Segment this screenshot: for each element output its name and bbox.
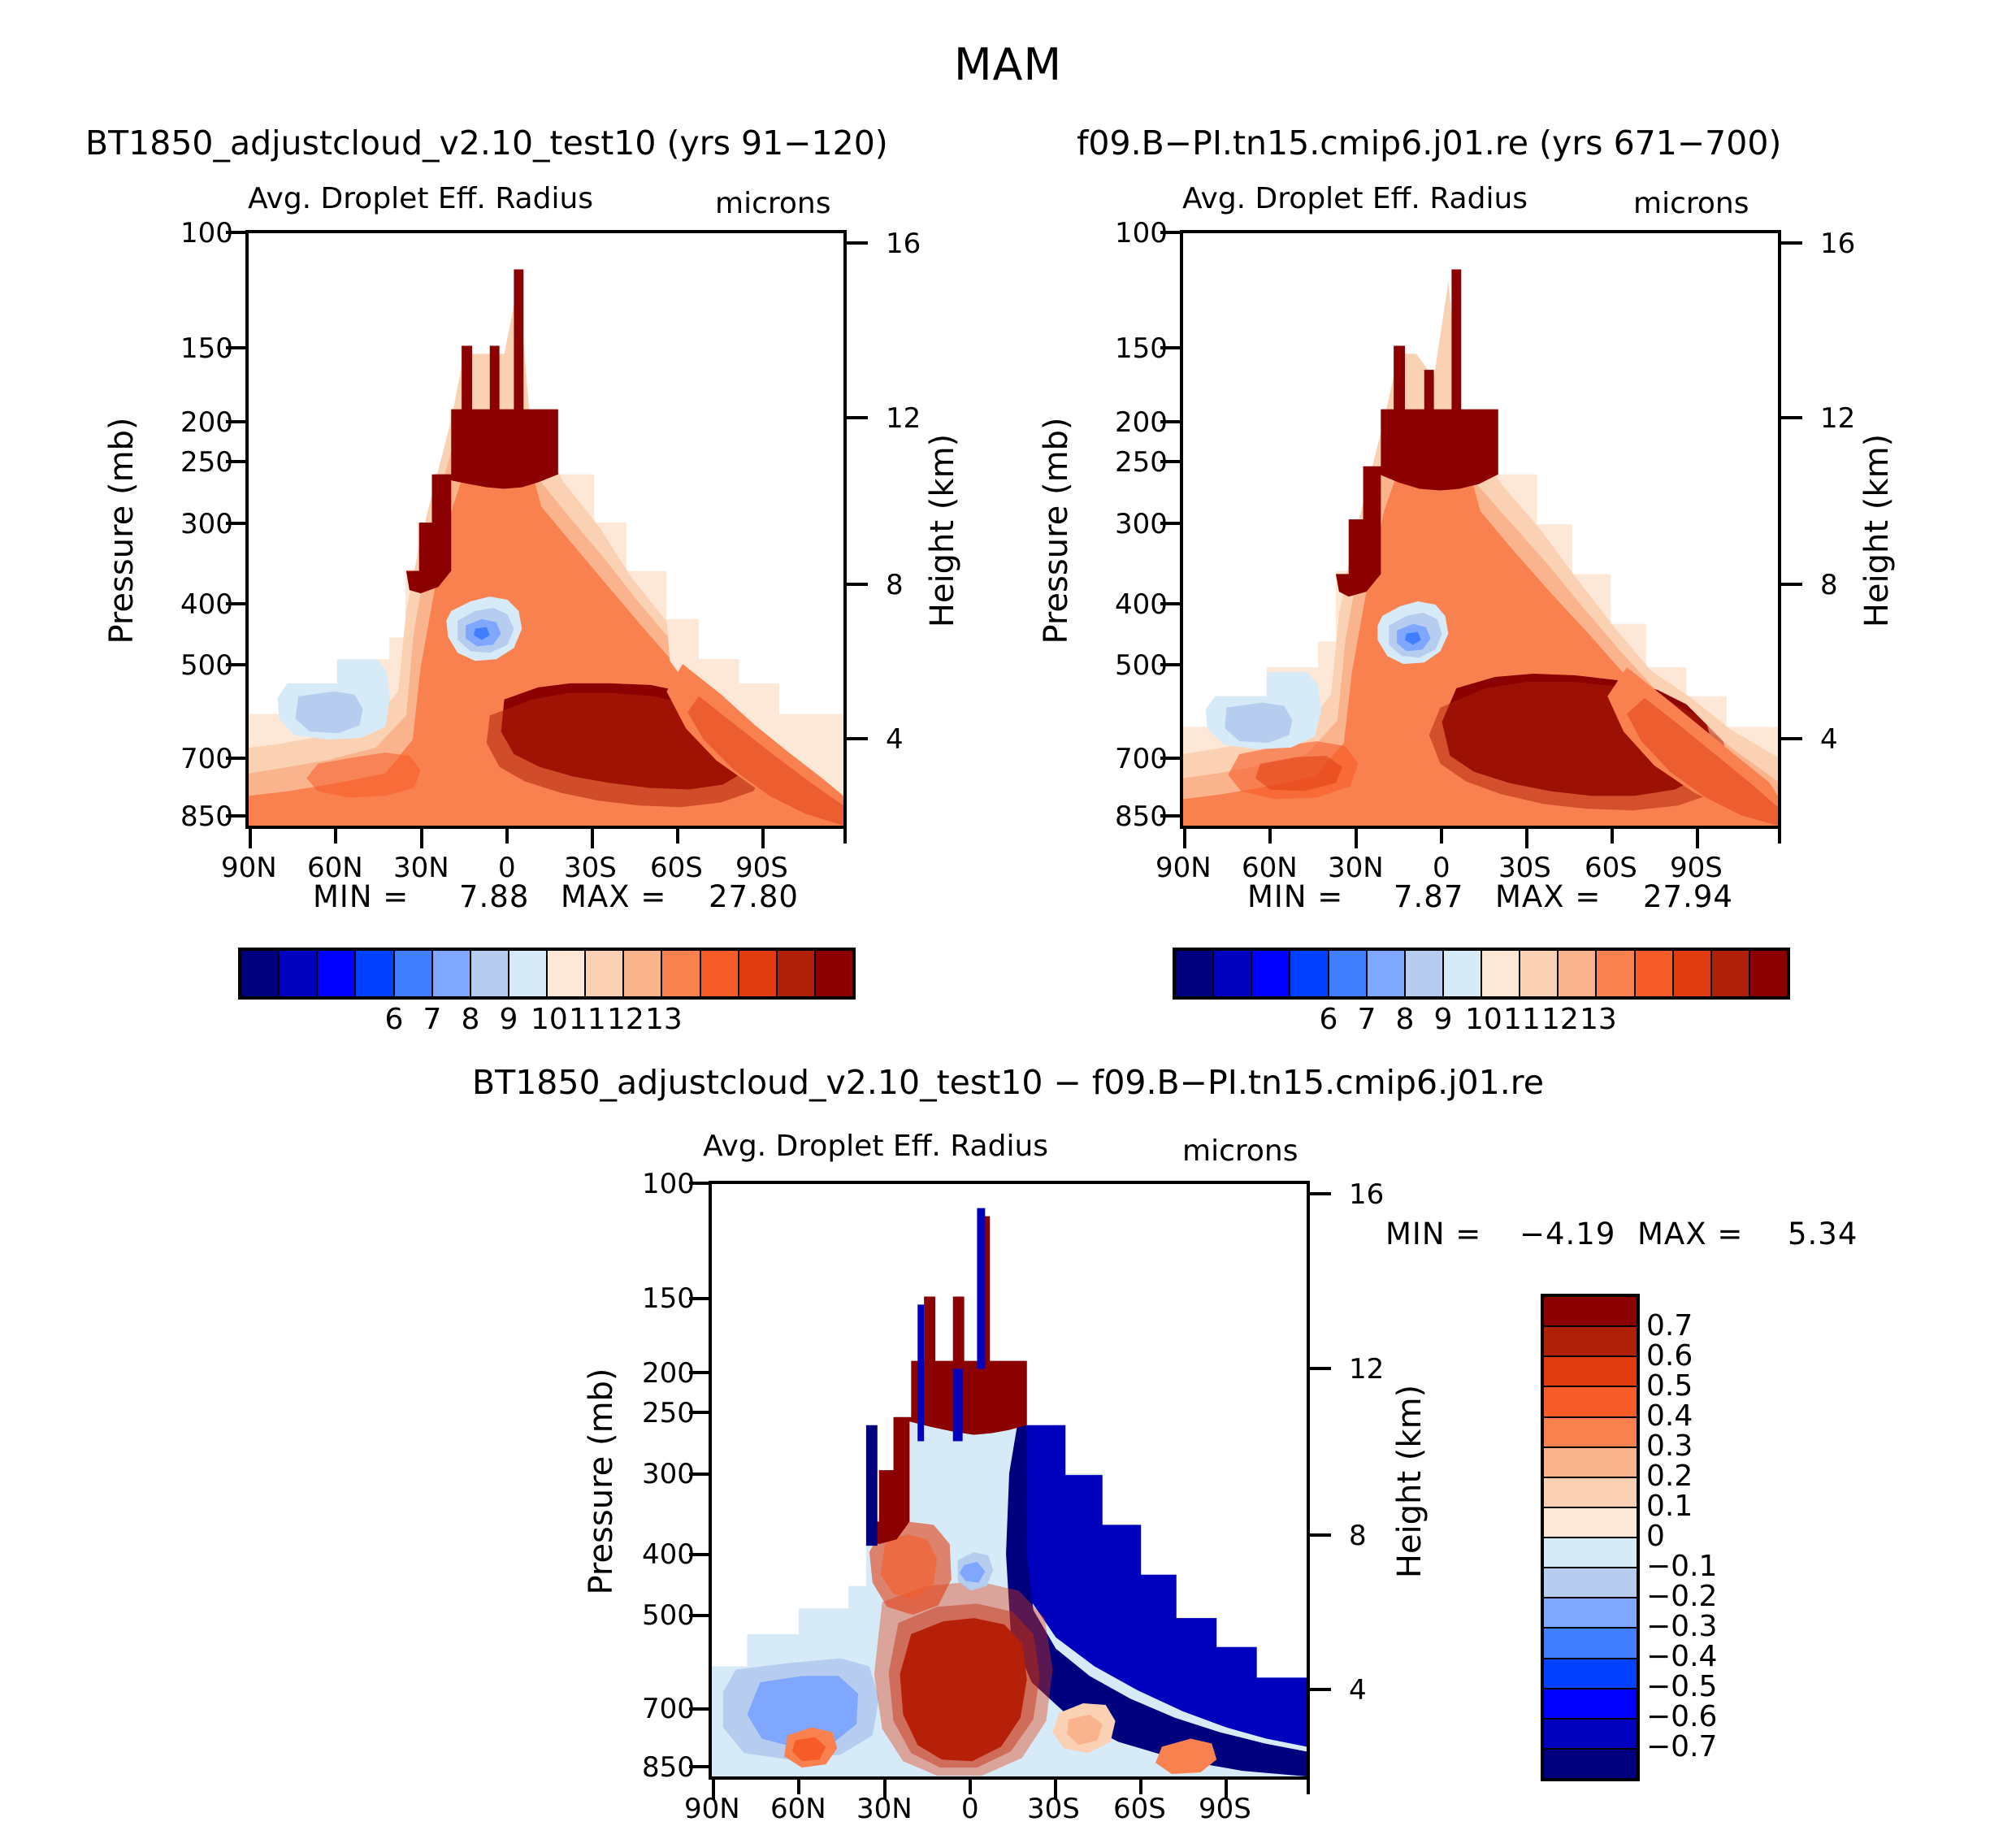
colorbar-swatch (395, 951, 433, 996)
colorbar-tick-label: 9 (492, 1003, 525, 1036)
tick-pressure-500-d: 500 (642, 1599, 695, 1632)
lat-label-30N-diff: 30N (856, 1793, 913, 1825)
colorbar-swatch (1544, 1387, 1637, 1417)
colorbar-swatch (1252, 951, 1290, 996)
right-panel-title: f09.B−PI.tn15.cmip6.j01.re (yrs 671−700) (1077, 124, 1781, 163)
left-units-label: microns (715, 187, 830, 220)
colorbar-swatch (1544, 1720, 1637, 1750)
colorbar-tick-label: −0.4 (1646, 1640, 1768, 1673)
colorbar-swatch (1520, 951, 1559, 996)
colorbar-swatch (548, 951, 586, 996)
tick-height-16: 16 (886, 228, 921, 260)
tick-height-8-r: 8 (1820, 569, 1838, 601)
right-contour-plot[interactable] (1180, 230, 1781, 829)
left-height-axis-title: Height (km) (924, 397, 961, 665)
colorbar-swatch (1406, 951, 1444, 996)
colorbar-tick-label: 13 (1580, 1003, 1612, 1036)
right-variable-label: Avg. Droplet Eff. Radius (1182, 182, 1528, 215)
tick-height-12-r: 12 (1820, 402, 1855, 435)
tick-height-12-d: 12 (1349, 1353, 1384, 1386)
colorbar-swatch (1750, 951, 1787, 996)
tick-pressure-700-d: 700 (642, 1693, 695, 1725)
lat-label-90N-diff: 90N (684, 1793, 740, 1825)
colorbar-swatch (1544, 1297, 1637, 1327)
colorbar-swatch (1176, 951, 1214, 996)
right-max-value: 27.94 (1643, 879, 1733, 914)
tick-height-4-r: 4 (1820, 723, 1838, 756)
lat-label-60N-diff: 60N (770, 1793, 826, 1825)
colorbar-swatch (433, 951, 471, 996)
tick-pressure-250-d: 250 (642, 1397, 695, 1429)
tick-height-16-d: 16 (1349, 1178, 1384, 1211)
colorbar-swatch (471, 951, 509, 996)
colorbar-swatch (280, 951, 318, 996)
tick-pressure-850-d: 850 (642, 1751, 695, 1784)
right-colorbar[interactable] (1173, 948, 1790, 1000)
diff-height-axis-title: Height (km) (1391, 1347, 1429, 1616)
tick-pressure-200-d: 200 (642, 1357, 695, 1390)
tick-pressure-300-d: 300 (642, 1458, 695, 1490)
diff-colorbar-labels: 0.70.60.50.40.30.20.10−0.1−0.2−0.3−0.4−0… (1646, 1294, 1776, 1781)
left-contour-plot[interactable] (245, 230, 847, 829)
colorbar-swatch (1544, 1357, 1637, 1387)
diff-min-label: MIN = (1385, 1217, 1481, 1251)
lat-label-90N-left: 90N (221, 852, 277, 884)
colorbar-tick-label: 0.6 (1646, 1339, 1768, 1373)
diff-max-label: MAX = (1637, 1217, 1743, 1251)
lat-label-90N-right: 90N (1155, 852, 1212, 884)
colorbar-swatch (356, 951, 394, 996)
left-pressure-axis-title: Pressure (mb) (103, 397, 141, 665)
colorbar-swatch (1544, 1478, 1637, 1508)
colorbar-tick-label: 12 (607, 1003, 639, 1036)
colorbar-swatch (1544, 1659, 1637, 1689)
right-max-label: MAX = (1495, 879, 1601, 914)
colorbar-swatch (1544, 1538, 1637, 1568)
tick-height-4: 4 (886, 723, 904, 756)
colorbar-tick-label: 6 (1312, 1003, 1345, 1036)
left-colorbar-labels: 678910111213 (238, 1003, 856, 1043)
colorbar-tick-label: 0.7 (1646, 1309, 1768, 1342)
colorbar-swatch (241, 951, 280, 996)
left-contour-field (249, 233, 843, 826)
left-panel-title: BT1850_adjustcloud_v2.10_test10 (yrs 91−… (85, 124, 888, 163)
colorbar-tick-label: −0.6 (1646, 1700, 1768, 1733)
colorbar-swatch (1559, 951, 1597, 996)
colorbar-tick-label: −0.3 (1646, 1610, 1768, 1643)
colorbar-swatch (662, 951, 700, 996)
diff-pressure-axis-title: Pressure (mb) (583, 1347, 620, 1616)
colorbar-tick-label: 8 (1389, 1003, 1421, 1036)
colorbar-swatch (1329, 951, 1368, 996)
colorbar-swatch (701, 951, 739, 996)
colorbar-swatch (318, 951, 356, 996)
left-min-label: MIN = (313, 879, 409, 914)
colorbar-swatch (1544, 1327, 1637, 1357)
colorbar-swatch (1544, 1598, 1637, 1629)
colorbar-swatch (1482, 951, 1520, 996)
diff-variable-label: Avg. Droplet Eff. Radius (703, 1130, 1048, 1163)
right-min-value: 7.87 (1394, 879, 1463, 914)
colorbar-tick-label: 10 (1465, 1003, 1498, 1036)
colorbar-tick-label: 0.1 (1646, 1490, 1768, 1523)
tick-height-8-d: 8 (1349, 1520, 1367, 1552)
colorbar-tick-label: 0.5 (1646, 1369, 1768, 1403)
left-variable-label: Avg. Droplet Eff. Radius (248, 182, 593, 215)
diff-panel-title: BT1850_adjustcloud_v2.10_test10 − f09.B−… (0, 1063, 2016, 1102)
page-title: MAM (0, 39, 2016, 90)
colorbar-swatch (1636, 951, 1674, 996)
tick-pressure-400-d: 400 (642, 1538, 695, 1571)
colorbar-swatch (1597, 951, 1635, 996)
tick-height-4-d: 4 (1349, 1674, 1367, 1707)
colorbar-tick-label: 8 (454, 1003, 487, 1036)
right-units-label: microns (1633, 187, 1749, 220)
lat-label-0-diff: 0 (961, 1793, 979, 1825)
tick-pressure-150-d: 150 (642, 1282, 695, 1315)
colorbar-tick-label: 0.4 (1646, 1399, 1768, 1433)
left-colorbar[interactable] (238, 948, 856, 1000)
tick-height-16-r: 16 (1820, 228, 1855, 260)
tick-pressure-100-d: 100 (642, 1168, 695, 1200)
colorbar-swatch (1544, 1508, 1637, 1538)
colorbar-tick-label: 0.3 (1646, 1429, 1768, 1463)
colorbar-swatch (586, 951, 624, 996)
colorbar-tick-label: 7 (416, 1003, 449, 1036)
colorbar-tick-label: 0.2 (1646, 1459, 1768, 1493)
colorbar-tick-label: 13 (645, 1003, 678, 1036)
diff-max-value: 5.34 (1788, 1217, 1858, 1251)
colorbar-tick-label: −0.1 (1646, 1550, 1768, 1583)
colorbar-swatch (816, 951, 852, 996)
colorbar-swatch (509, 951, 548, 996)
colorbar-tick-label: 9 (1427, 1003, 1459, 1036)
colorbar-tick-label: −0.2 (1646, 1580, 1768, 1613)
diff-units-label: microns (1182, 1134, 1298, 1168)
colorbar-swatch (1544, 1750, 1637, 1778)
lat-label-60S-diff: 60S (1113, 1793, 1166, 1825)
colorbar-swatch (1544, 1448, 1637, 1478)
colorbar-swatch (1544, 1629, 1637, 1659)
diff-contour-plot[interactable] (709, 1181, 1310, 1780)
left-max-value: 27.80 (709, 879, 799, 914)
right-contour-field (1183, 233, 1778, 826)
left-max-label: MAX = (561, 879, 666, 914)
colorbar-tick-label: 10 (531, 1003, 563, 1036)
right-colorbar-labels: 678910111213 (1173, 1003, 1790, 1043)
lat-label-90S-diff: 90S (1199, 1793, 1251, 1825)
colorbar-swatch (739, 951, 778, 996)
right-min-label: MIN = (1247, 879, 1343, 914)
colorbar-swatch (1674, 951, 1712, 996)
colorbar-tick-label: 7 (1351, 1003, 1383, 1036)
colorbar-tick-label: 0 (1646, 1520, 1768, 1553)
colorbar-tick-label: 11 (569, 1003, 601, 1036)
diff-min-value: −4.19 (1520, 1217, 1615, 1251)
colorbar-swatch (1444, 951, 1482, 996)
colorbar-swatch (1544, 1689, 1637, 1720)
diff-colorbar[interactable] (1541, 1294, 1640, 1781)
colorbar-tick-label: 12 (1541, 1003, 1574, 1036)
colorbar-tick-label: 6 (378, 1003, 410, 1036)
right-pressure-axis-title: Pressure (mb) (1038, 397, 1075, 665)
colorbar-swatch (624, 951, 662, 996)
tick-height-8: 8 (886, 569, 904, 601)
colorbar-swatch (1290, 951, 1329, 996)
colorbar-tick-label: 11 (1503, 1003, 1536, 1036)
colorbar-swatch (1544, 1568, 1637, 1598)
diff-contour-field (712, 1184, 1307, 1776)
right-height-axis-title: Height (km) (1858, 397, 1896, 665)
tick-height-12: 12 (886, 402, 921, 435)
colorbar-swatch (1712, 951, 1750, 996)
colorbar-swatch (1544, 1418, 1637, 1448)
left-min-value: 7.88 (459, 879, 529, 914)
colorbar-swatch (1214, 951, 1252, 996)
colorbar-swatch (778, 951, 816, 996)
colorbar-tick-label: −0.5 (1646, 1670, 1768, 1703)
colorbar-tick-label: −0.7 (1646, 1730, 1768, 1763)
lat-label-30S-diff: 30S (1027, 1793, 1080, 1825)
colorbar-swatch (1368, 951, 1406, 996)
